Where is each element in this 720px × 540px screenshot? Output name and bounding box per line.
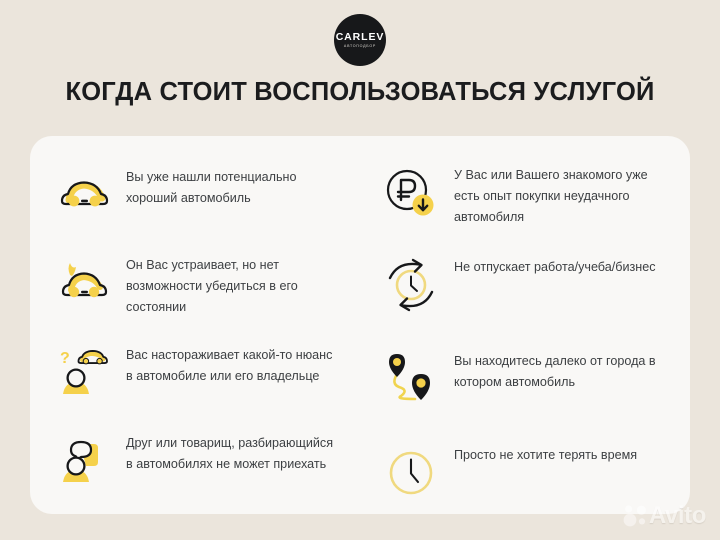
list-item-label: Вы находитесь далеко от города в котором… (454, 348, 664, 393)
map-route-pins-icon (382, 350, 440, 408)
list-item: Друг или товарищ, разбирающийся в автомо… (56, 430, 352, 516)
clock-icon (382, 444, 440, 502)
list-item: Не отпускает работа/учеба/бизнес (382, 254, 664, 342)
avito-watermark-text: Avito (649, 502, 706, 530)
list-item-label: Вы уже нашли потенциально хороший автомо… (126, 164, 341, 209)
logo-circle: CARLEV АВТОПОДБОР (334, 14, 386, 66)
list-item: Вы находитесь далеко от города в котором… (382, 348, 664, 436)
list-item-label: Просто не хотите терять время (454, 442, 637, 466)
list-item: Вы уже нашли потенциально хороший автомо… (56, 164, 352, 250)
list-item: Он Вас устраивает, но нет возможности уб… (56, 252, 352, 338)
list-item: Просто не хотите терять время (382, 442, 664, 530)
clock-rotating-arrows-icon (382, 256, 440, 314)
brand-logo: CARLEV АВТОПОДБОР (0, 14, 720, 66)
list-item-label: У Вас или Вашего знакомого уже есть опыт… (454, 162, 664, 227)
avito-watermark: Avito (623, 502, 706, 530)
page-title: КОГДА СТОИТ ВОСПОЛЬЗОВАТЬСЯ УСЛУГОЙ (0, 78, 720, 107)
car-icon (56, 166, 112, 222)
logo-name: CARLEV (336, 32, 385, 43)
list-item: ? Вас настораживает какой-то нюанс в авт… (56, 342, 352, 428)
avito-logo-icon (623, 504, 649, 528)
list-item-label: Он Вас устраивает, но нет возможности уб… (126, 252, 341, 317)
car-with-spark-icon (56, 254, 112, 310)
left-benefits-column: Вы уже нашли потенциально хороший автомо… (56, 158, 360, 504)
ruble-down-arrow-icon (382, 164, 440, 222)
person-speech-bubble-icon (56, 432, 112, 488)
list-item-label: Вас настораживает какой-то нюанс в автом… (126, 342, 341, 387)
right-benefits-column: У Вас или Вашего знакомого уже есть опыт… (360, 158, 664, 504)
list-item: У Вас или Вашего знакомого уже есть опыт… (382, 162, 664, 250)
list-item-label: Не отпускает работа/учеба/бизнес (454, 254, 656, 278)
person-question-car-icon: ? (56, 344, 112, 400)
benefits-card: Вы уже нашли потенциально хороший автомо… (30, 136, 690, 514)
list-item-label: Друг или товарищ, разбирающийся в автомо… (126, 430, 341, 475)
logo-subtitle: АВТОПОДБОР (344, 45, 376, 49)
svg-text:?: ? (60, 350, 70, 367)
